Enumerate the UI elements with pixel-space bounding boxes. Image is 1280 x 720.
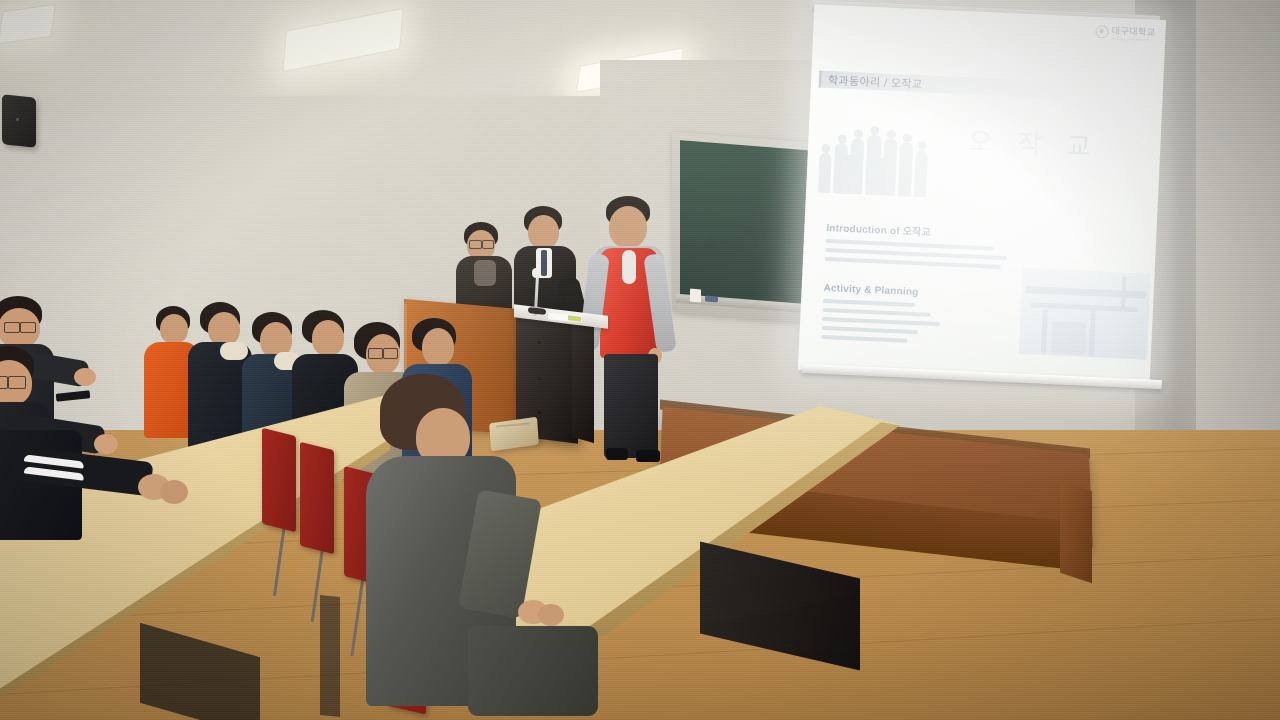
slide-section-2: Activity & Planning [821, 283, 1003, 347]
slide-bullet [823, 308, 931, 317]
slide-section-1: Introduction of 오작교 [825, 219, 1027, 270]
projection-screen: 대구대학교 DAEGU UNIVERSITY 학과동아리 / 오작교 오 작 교 [798, 4, 1166, 386]
board-eraser [705, 296, 718, 303]
wall-speaker-icon [2, 94, 36, 148]
university-logo: 대구대학교 DAEGU UNIVERSITY [1095, 23, 1156, 43]
classroom-presentation-photo: 대구대학교 DAEGU UNIVERSITY 학과동아리 / 오작교 오 작 교 [0, 0, 1280, 720]
table-left-leg-2 [320, 595, 340, 717]
microphone-head-icon [532, 268, 540, 278]
university-logo-subtext: DAEGU UNIVERSITY [1111, 37, 1155, 43]
slide-hero-word: 오 작 교 [968, 121, 1101, 164]
slide-hero-figures [816, 113, 959, 199]
chair [300, 442, 334, 554]
chalk-cup [690, 289, 701, 303]
university-emblem-icon [1095, 25, 1109, 39]
lectern-side [572, 317, 594, 443]
slide-photo [1019, 268, 1151, 360]
speaker-led-icon [16, 118, 19, 121]
slide-bullet [822, 326, 918, 334]
presentation-slide: 대구대학교 DAEGU UNIVERSITY 학과동아리 / 오작교 오 작 교 [798, 4, 1166, 386]
slide-title-bar: 학과동아리 / 오작교 [819, 70, 1062, 98]
stage-platform-edge [1060, 481, 1092, 583]
slide-bullet [821, 335, 907, 343]
slide-bullet [823, 299, 915, 307]
slide-bullet [822, 317, 940, 326]
slide-title: 학과동아리 / 오작교 [821, 71, 923, 92]
chair [262, 428, 296, 532]
